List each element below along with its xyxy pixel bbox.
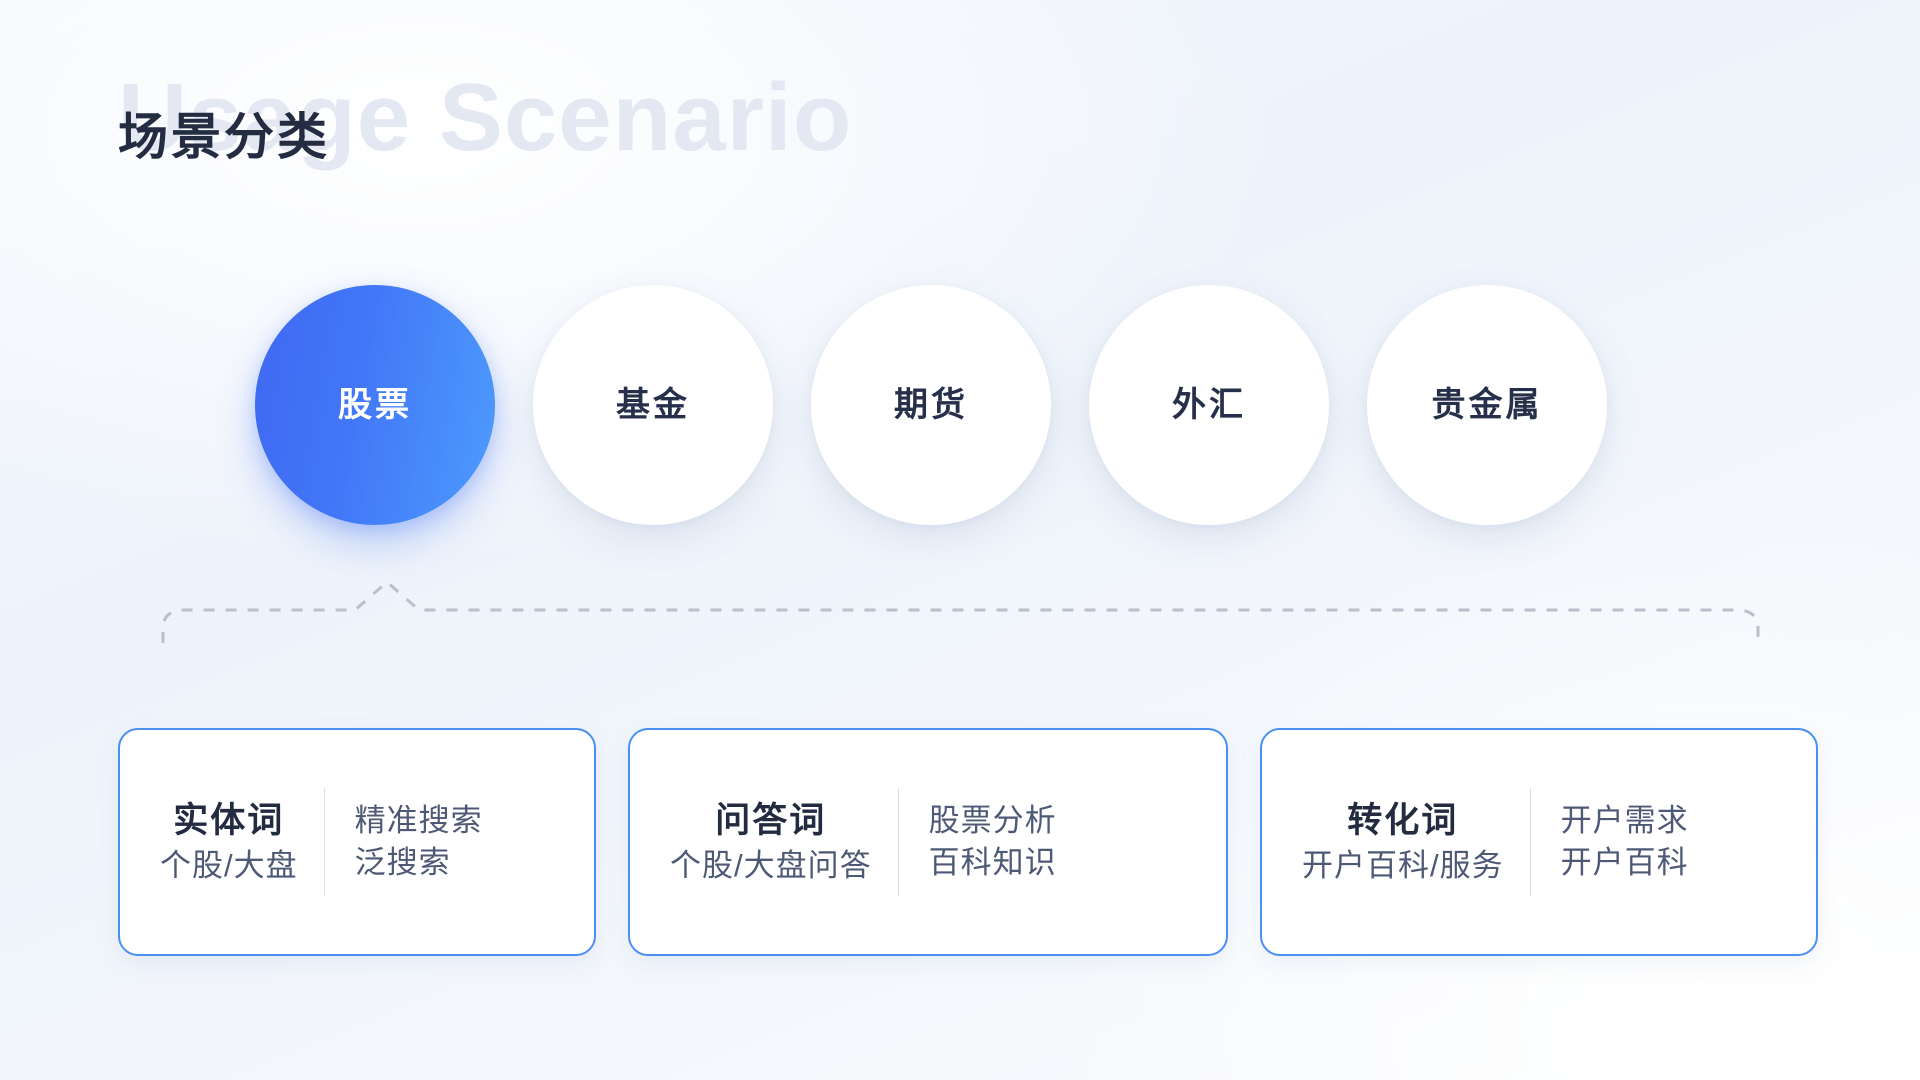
card-tag: 开户百科 (1561, 842, 1689, 884)
card-tag: 泛搜索 (355, 842, 483, 884)
card-right-column: 开户需求 开户百科 (1531, 800, 1703, 883)
category-circle-label: 股票 (338, 388, 412, 422)
card-left-column: 问答词 个股/大盘问答 (656, 798, 898, 886)
card-title: 转化词 (1302, 798, 1504, 845)
category-circle-futures[interactable]: 期货 (811, 285, 1051, 525)
dashed-bracket-connector (0, 575, 1920, 685)
category-circle-stock[interactable]: 股票 (255, 285, 495, 525)
category-circle-label: 外汇 (1172, 388, 1246, 422)
category-circle-label: 贵金属 (1432, 388, 1543, 422)
card-title: 问答词 (670, 798, 872, 845)
category-circle-row: 股票 基金 期货 外汇 贵金属 (255, 285, 1607, 525)
keyword-card-conversion[interactable]: 转化词 开户百科/服务 开户需求 开户百科 (1260, 728, 1818, 956)
page-title: 场景分类 (118, 112, 330, 162)
card-subtitle: 开户百科/服务 (1302, 845, 1504, 887)
category-circle-forex[interactable]: 外汇 (1089, 285, 1329, 525)
card-right-column: 股票分析 百科知识 (899, 800, 1071, 883)
category-circle-precious-metal[interactable]: 贵金属 (1367, 285, 1607, 525)
card-tag: 开户需求 (1561, 800, 1689, 842)
card-subtitle: 个股/大盘 (160, 845, 298, 887)
keyword-card-entity[interactable]: 实体词 个股/大盘 精准搜索 泛搜索 (118, 728, 596, 956)
card-subtitle: 个股/大盘问答 (670, 845, 872, 887)
card-tag: 精准搜索 (355, 800, 483, 842)
card-tag: 股票分析 (929, 800, 1057, 842)
category-circle-fund[interactable]: 基金 (533, 285, 773, 525)
category-circle-label: 期货 (894, 388, 968, 422)
card-left-column: 实体词 个股/大盘 (146, 798, 324, 886)
keyword-type-card-row: 实体词 个股/大盘 精准搜索 泛搜索 问答词 个股/大盘问答 股票分析 百科知识… (118, 728, 1818, 956)
keyword-card-qa[interactable]: 问答词 个股/大盘问答 股票分析 百科知识 (628, 728, 1228, 956)
card-tag: 百科知识 (929, 842, 1057, 884)
card-title: 实体词 (160, 798, 298, 845)
usage-scenario-page: Usage Scenario 场景分类 股票 基金 期货 外汇 贵金属 实体词 … (0, 0, 1920, 1080)
category-circle-label: 基金 (616, 388, 690, 422)
bracket-path (163, 582, 1758, 643)
card-right-column: 精准搜索 泛搜索 (325, 800, 497, 883)
card-left-column: 转化词 开户百科/服务 (1288, 798, 1530, 886)
